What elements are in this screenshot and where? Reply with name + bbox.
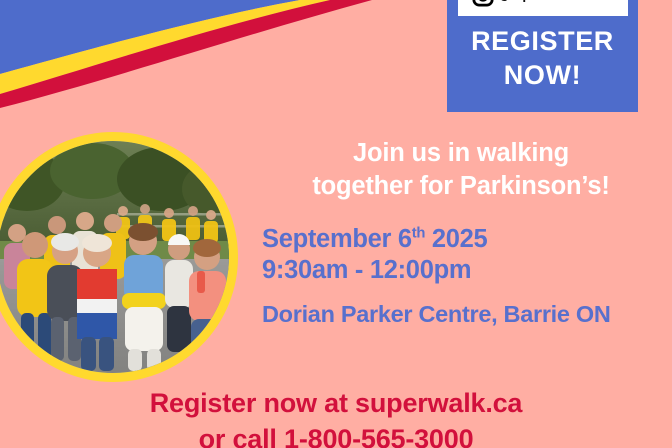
decorative-swoosh-bands: [0, 0, 400, 130]
band-red: [0, 0, 372, 108]
headline-line-1: Join us in walking: [258, 137, 664, 170]
headline-line-2: together for Parkinson’s!: [258, 170, 664, 203]
instagram-icon: [472, 0, 494, 7]
poster-canvas: @superwalkbarrie REGISTER NOW! Join us i…: [0, 0, 672, 448]
event-time: 9:30am - 12:00pm: [262, 255, 664, 286]
register-line-2: NOW!: [471, 59, 614, 93]
event-date: September 6th 2025: [262, 224, 664, 255]
walkers-photo-illustration: [0, 141, 229, 373]
walkers-photo: [0, 132, 238, 382]
instagram-handle-strip[interactable]: @superwalkbarrie: [458, 0, 628, 16]
event-date-year: 2025: [425, 225, 487, 253]
band-blue: [0, 0, 300, 74]
headline: Join us in walking together for Parkinso…: [258, 137, 664, 202]
event-date-ordinal: th: [412, 226, 425, 242]
band-yellow: [0, 0, 330, 94]
instagram-handle-text: @superwalkbarrie: [500, 0, 622, 3]
event-details: September 6th 2025 9:30am - 12:00pm Dori…: [262, 224, 664, 328]
register-line-1: REGISTER: [471, 25, 614, 59]
register-box[interactable]: @superwalkbarrie REGISTER NOW!: [447, 0, 638, 112]
cta-phone-line[interactable]: or call 1-800-565-3000: [0, 422, 672, 448]
call-to-action: Register now at superwalk.ca or call 1-8…: [0, 386, 672, 448]
cta-website-line[interactable]: Register now at superwalk.ca: [0, 386, 672, 422]
walkers-photo-image: [0, 141, 229, 373]
register-now-label[interactable]: REGISTER NOW!: [471, 25, 614, 93]
event-date-text: September 6: [262, 225, 412, 253]
event-location: Dorian Parker Centre, Barrie ON: [262, 300, 664, 328]
